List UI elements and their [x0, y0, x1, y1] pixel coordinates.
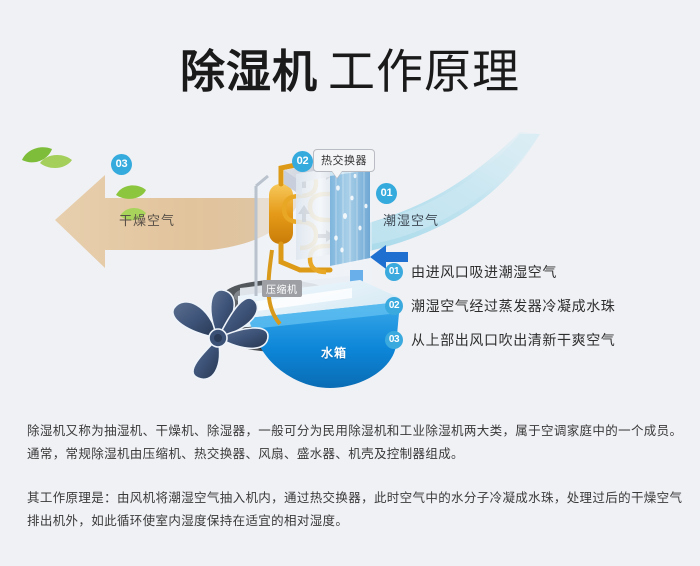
legend-text-02: 潮湿空气经过蒸发器冷凝成水珠 [411, 296, 615, 316]
legend-text-03: 从上部出风口吹出清新干爽空气 [411, 330, 615, 350]
description-paragraph-1: 除湿机又称为抽湿机、干燥机、除湿器，一般可分为民用除湿机和工业除湿机两大类，属于… [27, 420, 677, 466]
legend-item: 01 由进风口吸进潮湿空气 [385, 255, 685, 289]
legend-item: 02 潮湿空气经过蒸发器冷凝成水珠 [385, 289, 685, 323]
page-title: 除湿机工作原理 [0, 33, 700, 102]
callout-heat-exchanger: 热交换器 [313, 149, 375, 172]
fan-icon [173, 290, 268, 379]
paragraph-1-line-2: 通常，常规除湿机由压缩机、热交换器、风扇、盛水器、机壳及控制器组成。 [27, 443, 677, 466]
label-dry-air: 干燥空气 [119, 210, 175, 229]
paragraph-2-line-2: 排出机外，如此循环使室内湿度保持在适宜的相对湿度。 [27, 510, 677, 533]
page-title-light: 工作原理 [328, 45, 520, 98]
label-water-tank: 水箱 [321, 344, 347, 361]
page-root: 除湿机工作原理 [0, 0, 700, 566]
paragraph-1-line-1: 除湿机又称为抽湿机、干燥机、除湿器，一般可分为民用除湿机和工业除湿机两大类，属于… [27, 420, 677, 443]
legend-text-01: 由进风口吸进潮湿空气 [411, 262, 557, 282]
diagram-badge-03: 03 [111, 154, 132, 175]
diagram-badge-02: 02 [292, 151, 313, 172]
page-title-bold: 除湿机 [180, 46, 318, 97]
label-humid-air: 潮湿空气 [383, 210, 439, 229]
paragraph-2-line-1: 其工作原理是：由风机将潮湿空气抽入机内，通过热交换器，此时空气中的水分子冷凝成水… [27, 487, 677, 510]
legend-item: 03 从上部出风口吹出清新干爽空气 [385, 323, 685, 357]
legend-badge-02: 02 [385, 297, 403, 315]
legend-list: 01 由进风口吸进潮湿空气 02 潮湿空气经过蒸发器冷凝成水珠 03 从上部出风… [385, 255, 685, 357]
diagram-badge-01: 01 [376, 183, 397, 204]
label-compressor: 压缩机 [262, 280, 302, 297]
legend-badge-03: 03 [385, 331, 403, 349]
description-paragraph-2: 其工作原理是：由风机将潮湿空气抽入机内，通过热交换器，此时空气中的水分子冷凝成水… [27, 487, 677, 533]
legend-badge-01: 01 [385, 263, 403, 281]
